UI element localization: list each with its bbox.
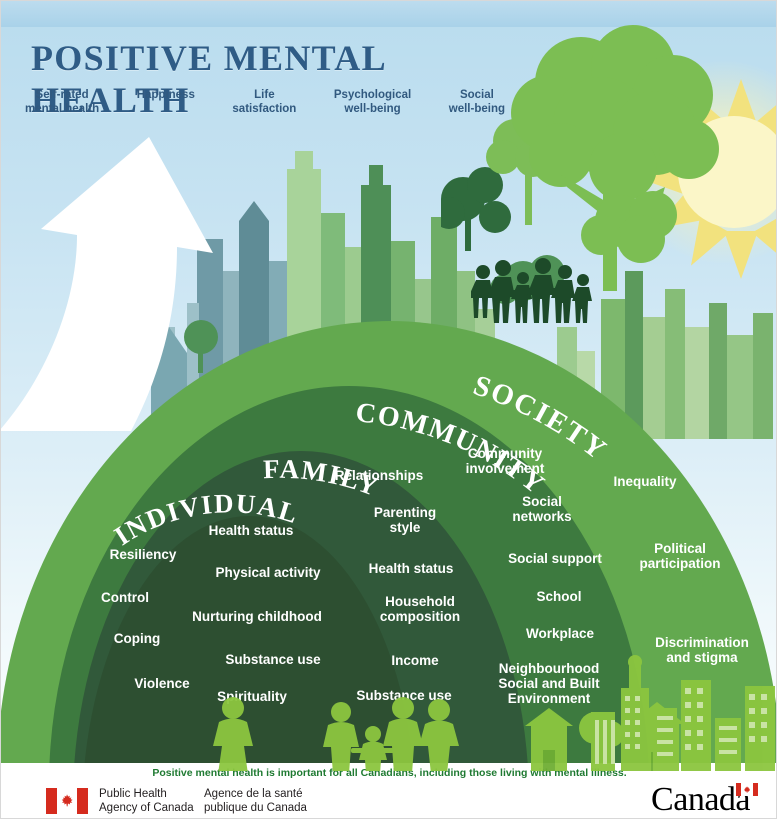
bottom-pictograms xyxy=(1,256,777,771)
phac-line2: Agency of Canada xyxy=(99,801,194,815)
dimension-social-well-being: Socialwell-being xyxy=(449,89,505,116)
maple-leaf-icon xyxy=(59,793,75,809)
phac-english-name: Public Health Agency of Canada xyxy=(99,787,194,815)
wordmark-maple-leaf-icon xyxy=(743,785,752,794)
aspc-line1: Agence de la santé xyxy=(204,787,307,801)
phac-line1: Public Health xyxy=(99,787,194,801)
mental-health-dimensions: Self-ratedmental healthHappinessLifesati… xyxy=(25,89,505,116)
phac-french-name: Agence de la santé publique du Canada xyxy=(204,787,307,815)
dimension-self-rated-mental-health: Self-ratedmental health xyxy=(25,89,99,116)
canada-flag-icon xyxy=(46,788,88,814)
aspc-line2: publique du Canada xyxy=(204,801,307,815)
infographic-poster: SOCIETY COMMUNITY FAMILY INDIVIDUAL Heal… xyxy=(0,0,777,819)
canada-wordmark-flag-icon xyxy=(736,783,758,796)
dimension-psychological-well-being: Psychologicalwell-being xyxy=(334,89,411,116)
dimension-happiness: Happiness xyxy=(137,89,195,103)
footer-branding: Public Health Agency of Canada Agence de… xyxy=(1,785,777,819)
dimension-life-satisfaction: Lifesatisfaction xyxy=(232,89,296,116)
